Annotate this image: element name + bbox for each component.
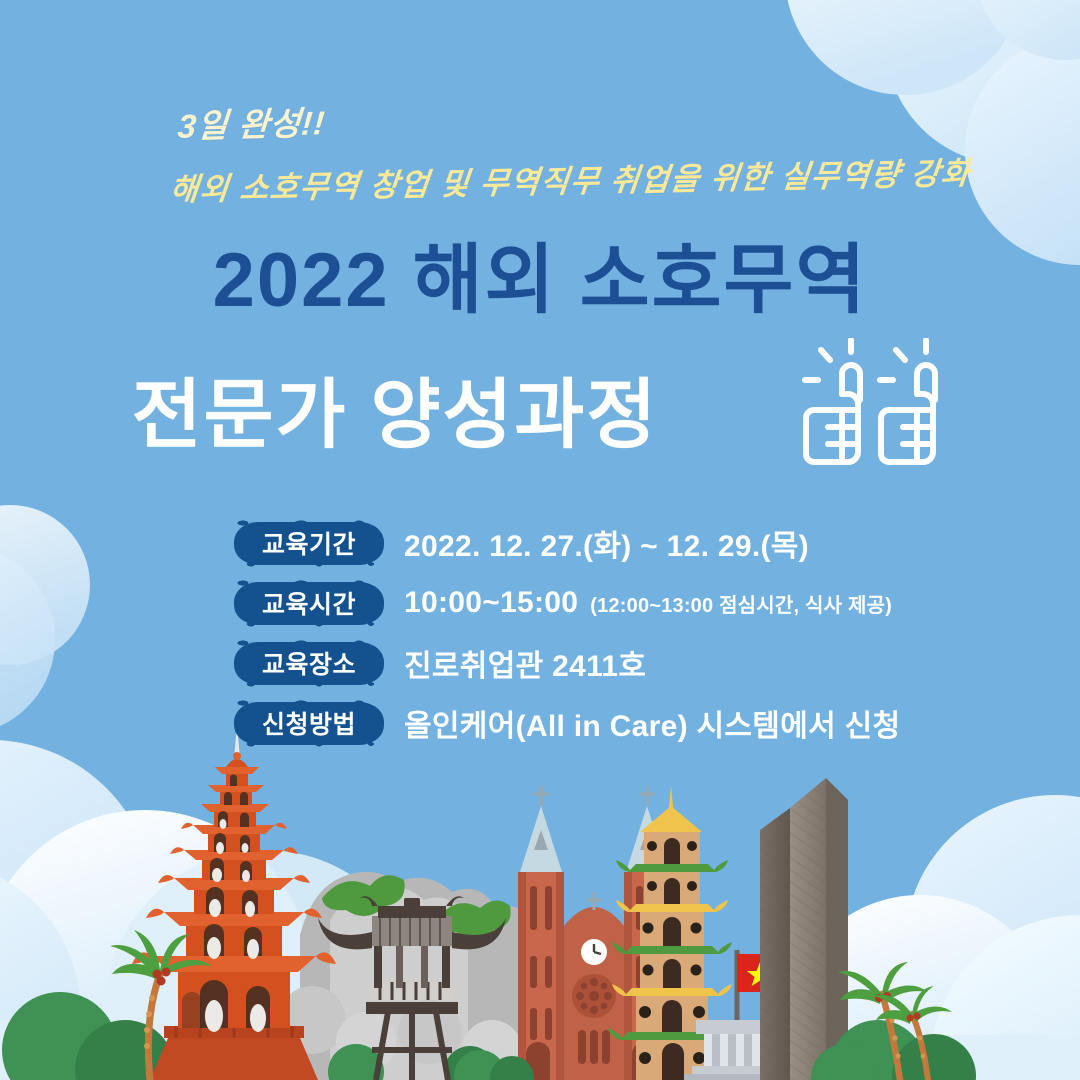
thumbs-up-right-icon	[880, 340, 935, 462]
double-thumbs-up-icon	[778, 338, 958, 498]
info-block: 교육기간 2022. 12. 27.(화) ~ 12. 29.(목) 교육시간 …	[236, 520, 900, 760]
badge-period: 교육기간	[236, 522, 382, 565]
thumbs-up-left-icon	[805, 340, 860, 462]
note-lunch: (12:00~13:00 점심시간, 식사 제공)	[590, 589, 892, 618]
poster-canvas: 3일 완성!! 해외 소호무역 창업 및 무역직무 취업을 위한 실무역량 강화…	[0, 0, 1080, 1080]
value-time: 10:00~15:00	[404, 586, 578, 620]
info-row-period: 교육기간 2022. 12. 27.(화) ~ 12. 29.(목)	[236, 520, 900, 566]
info-row-apply: 신청방법 올인케어(All in Care) 시스템에서 신청	[236, 700, 900, 746]
info-row-place: 교육장소 진로취업관 2411호	[236, 640, 900, 686]
subheadline-text: 해외 소호무역 창업 및 무역직무 취업을 위한 실무역량 강화	[168, 148, 974, 210]
value-apply: 올인케어(All in Care) 시스템에서 신청	[404, 701, 900, 745]
badge-apply: 신청방법	[236, 702, 382, 745]
badge-time: 교육시간	[236, 582, 382, 625]
value-place: 진로취업관 2411호	[404, 641, 646, 685]
value-period: 2022. 12. 27.(화) ~ 12. 29.(목)	[404, 521, 809, 565]
title-line-1: 2022 해외 소호무역	[0, 243, 1080, 319]
info-row-time: 교육시간 10:00~15:00 (12:00~13:00 점심시간, 식사 제…	[236, 580, 900, 626]
title-line-2: 전문가 양성과정	[0, 378, 790, 454]
eyebrow-text: 3일 완성!!	[176, 96, 327, 148]
badge-place: 교육장소	[236, 642, 382, 685]
